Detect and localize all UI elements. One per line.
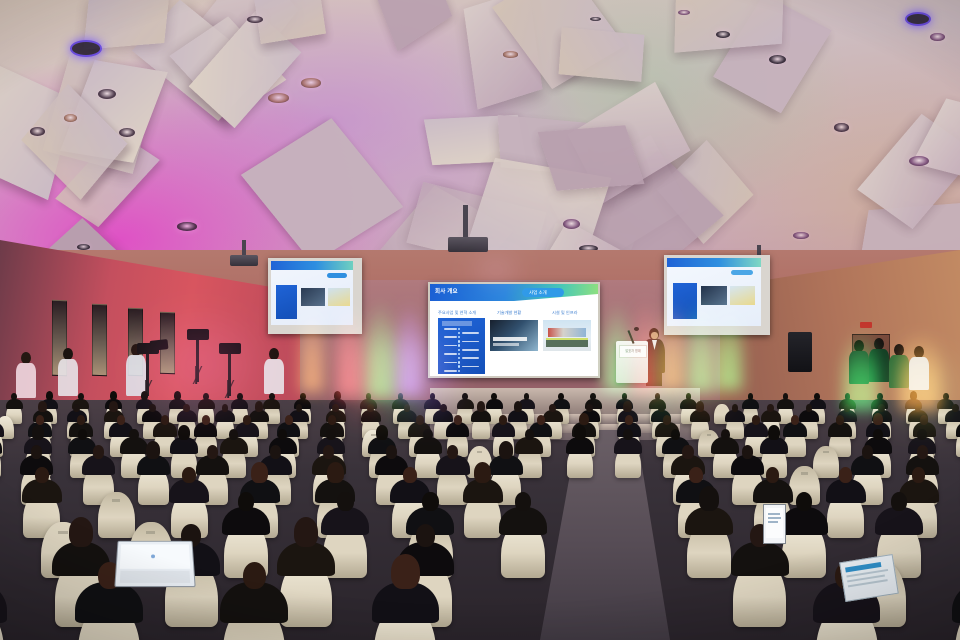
audience-head <box>836 415 844 424</box>
slide-photo-technology <box>490 320 538 351</box>
audience-head <box>682 445 693 458</box>
audience-head <box>69 517 93 547</box>
audience-head <box>328 415 336 424</box>
audience-shoulders <box>742 399 759 409</box>
audience-head <box>689 467 703 483</box>
audience-head <box>917 445 928 458</box>
audience-head <box>386 445 397 458</box>
timeline-node-icon <box>458 336 460 338</box>
audience-head <box>721 429 731 440</box>
audience-head <box>77 415 85 424</box>
exit-sign-icon <box>860 322 872 328</box>
crew-member <box>14 352 38 398</box>
ceiling-downlight-icon <box>77 244 90 250</box>
left-projector <box>230 255 258 266</box>
light-glow <box>398 320 462 430</box>
chair-back-tag <box>477 451 483 453</box>
audience-head <box>514 401 522 411</box>
chair-back-tag <box>707 434 712 436</box>
audience-head <box>46 391 53 400</box>
light-glow <box>672 320 738 424</box>
audience-head <box>525 429 535 440</box>
slide-section-title-2: 기술개발 현황 <box>497 310 521 316</box>
audience-head <box>36 415 44 424</box>
audience-head <box>323 445 334 458</box>
audience-head <box>474 462 491 483</box>
light-glow <box>880 340 960 436</box>
audience-head <box>78 429 88 440</box>
ceiling-downlight-icon <box>793 232 809 240</box>
audience-head <box>537 415 545 424</box>
loudspeaker <box>788 332 812 372</box>
timeline-entry <box>462 332 479 334</box>
timeline-node-icon <box>458 328 460 330</box>
ceiling-ring-light-icon <box>70 40 102 57</box>
left-projector-pole <box>242 240 246 256</box>
slide-photo-facility <box>543 320 591 351</box>
audience-head <box>229 429 239 440</box>
audience-shoulders <box>486 399 503 409</box>
audience-head <box>243 562 266 589</box>
audience-head <box>873 429 883 440</box>
chair-back-tag <box>146 531 156 535</box>
audience-laptop <box>114 541 195 587</box>
timeline-entry <box>462 341 479 343</box>
audience-head <box>766 467 780 483</box>
audience-head <box>752 415 760 424</box>
audience-head <box>285 415 293 424</box>
ceiling-downlight-icon <box>64 114 77 122</box>
audience-head <box>337 492 353 511</box>
audience-head <box>73 404 80 412</box>
audience-head <box>182 467 196 483</box>
ceiling-downlight-icon <box>930 33 945 41</box>
wall-window <box>92 304 107 377</box>
crew-body <box>58 359 78 396</box>
ceiling-panel <box>675 0 785 52</box>
audience-head <box>117 415 125 424</box>
audience-shoulders <box>457 399 474 409</box>
timeline-entry <box>462 349 479 351</box>
ceiling-downlight-icon <box>301 78 321 87</box>
audience-head <box>839 467 853 483</box>
timeline-node-icon <box>458 332 460 334</box>
chair-back-tag <box>58 531 68 535</box>
ceiling-ring-light-icon <box>905 12 931 26</box>
ceiling-downlight-icon <box>268 93 289 103</box>
audience-head <box>574 425 586 440</box>
audience-head <box>873 413 883 425</box>
audience-head <box>699 486 719 511</box>
projector-mount-pole <box>463 205 468 241</box>
ceiling-downlight-icon <box>98 89 116 99</box>
audience-head <box>300 393 306 400</box>
chair-back-tag <box>371 434 376 436</box>
audience-head <box>35 467 49 483</box>
ceiling-downlight-icon <box>119 128 135 137</box>
audience-head <box>912 467 926 483</box>
audience-head <box>796 492 812 511</box>
audience-head <box>110 391 117 400</box>
audience-head <box>78 393 84 400</box>
audience-head <box>768 425 780 440</box>
ceiling-downlight-icon <box>678 10 690 15</box>
audience-head <box>447 445 458 458</box>
audience-head <box>499 415 507 424</box>
audience-head <box>294 517 318 547</box>
audience-head <box>742 445 753 458</box>
audience-head <box>732 404 739 412</box>
audience-head <box>477 401 485 411</box>
audience-head <box>31 445 42 458</box>
audience-head <box>207 445 218 458</box>
ceiling-panel <box>375 0 452 51</box>
audience-head <box>251 462 268 483</box>
audience-head <box>146 441 160 458</box>
audience-shoulders <box>777 399 794 409</box>
ceiling-downlight-icon <box>503 51 518 57</box>
audience-head <box>129 429 139 440</box>
ceiling-panel <box>537 125 644 191</box>
audience-head <box>391 554 419 589</box>
timeline-node-icon <box>458 340 460 342</box>
audience-head <box>625 415 633 424</box>
slide-section-title-1: 주요사업 및 연혁 소개 <box>438 310 476 316</box>
slide-header-pill-label: 사업 소개 <box>529 290 547 296</box>
audience-head <box>423 429 433 440</box>
audience-head <box>32 425 44 440</box>
ceiling-downlight-icon <box>834 123 849 131</box>
chair-back-tag <box>112 499 120 502</box>
light-glow <box>466 250 526 290</box>
chair-back-tag <box>801 472 808 475</box>
audience-head <box>238 492 254 511</box>
audience-head <box>403 467 417 483</box>
ceiling-projector <box>448 237 488 252</box>
audience-head <box>416 524 436 547</box>
audience-head <box>586 404 593 412</box>
audience-tablet <box>763 504 786 544</box>
audience-head <box>109 401 117 411</box>
timeline-node-icon <box>458 344 460 346</box>
audience-head <box>38 401 46 411</box>
conference-hall-photo: 회사 개요 사업 소개 주요사업 및 연혁 소개 기술개발 현황 시설 및 인프… <box>0 0 960 640</box>
audience-head <box>278 429 288 440</box>
audience-head <box>671 429 681 440</box>
ceiling-downlight-icon <box>909 156 929 166</box>
audience-head <box>806 404 813 412</box>
audience-head <box>862 445 873 458</box>
audience-head <box>623 429 633 440</box>
ceiling-downlight-icon <box>30 127 45 136</box>
timeline-entry <box>462 366 479 368</box>
light-glow <box>120 300 280 430</box>
audience-head <box>579 413 589 425</box>
timeline-entry <box>462 357 479 359</box>
audience-head <box>791 415 799 424</box>
audience-head <box>296 404 303 412</box>
slide-header-title: 회사 개요 <box>435 287 458 295</box>
audience-head <box>93 445 104 458</box>
crew-body <box>16 363 36 398</box>
ceiling-panel <box>254 0 326 43</box>
ceiling-downlight-icon <box>563 219 580 229</box>
audience-head <box>515 492 531 511</box>
slide-section-title-3: 시설 및 인프라 <box>552 310 577 316</box>
audience-head <box>326 429 336 440</box>
ceiling-downlight-icon <box>247 16 263 24</box>
ceiling-panel <box>558 27 643 81</box>
audience-head <box>767 404 774 412</box>
audience-head <box>623 401 631 411</box>
chair-back-tag <box>823 451 829 453</box>
audience-head <box>491 393 497 400</box>
audience-head <box>549 404 556 412</box>
audience-document <box>839 554 899 602</box>
audience-head <box>270 445 281 458</box>
ceiling-downlight-icon <box>716 31 730 38</box>
audience-head <box>499 441 513 458</box>
audience-head <box>454 415 462 424</box>
audience-head <box>891 492 907 511</box>
ceiling-panel <box>241 118 404 263</box>
audience-head <box>376 425 388 440</box>
crew-member <box>56 348 80 396</box>
ceiling-downlight-icon <box>177 222 197 230</box>
audience-head <box>327 462 344 483</box>
audience-head <box>422 492 438 511</box>
audience-shoulders <box>6 399 23 409</box>
audience-head <box>11 393 17 400</box>
